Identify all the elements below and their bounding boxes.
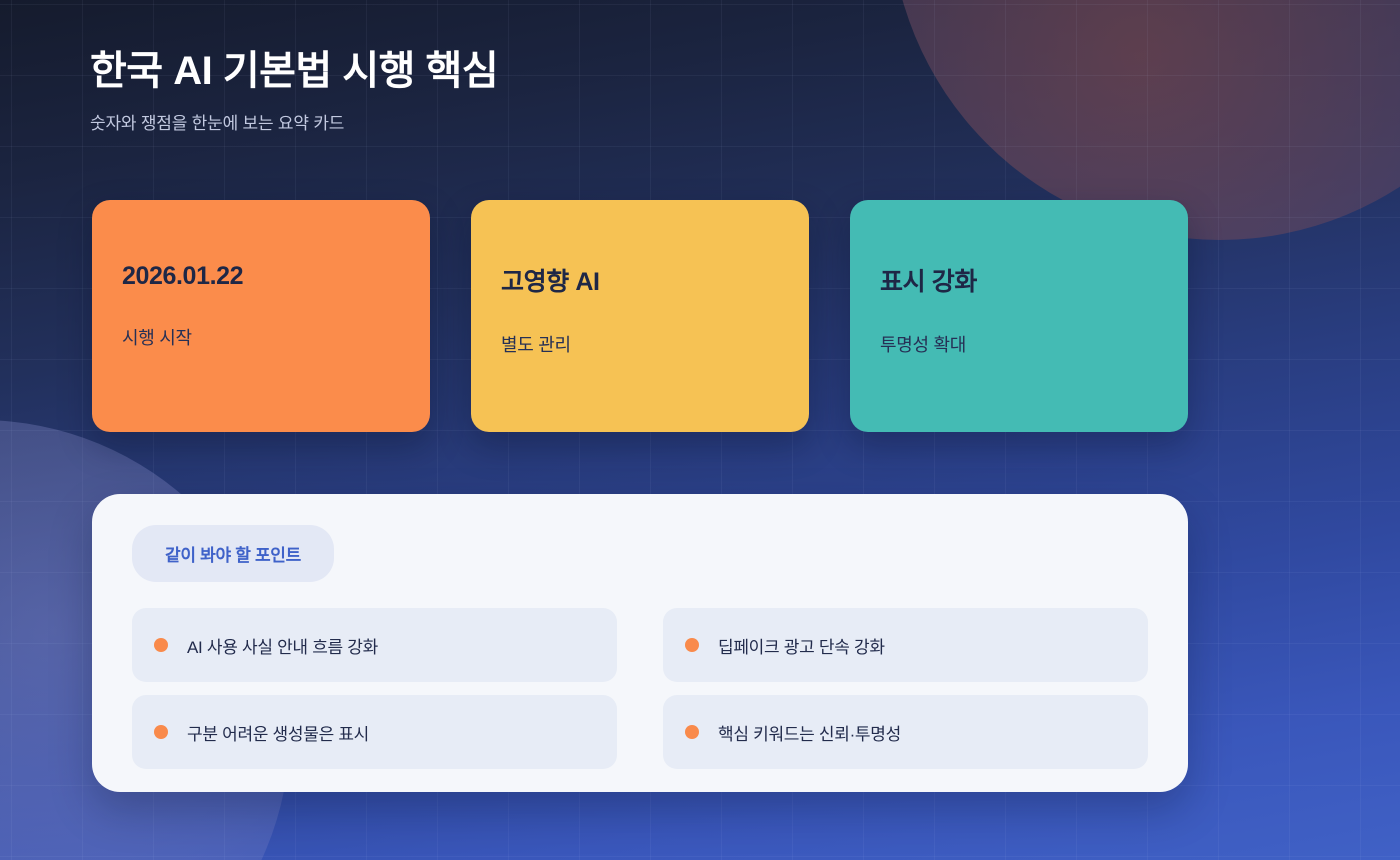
list-item[interactable]: 핵심 키워드는 신뢰·투명성: [663, 695, 1148, 769]
header: 한국 AI 기본법 시행 핵심 숫자와 쟁점을 한눈에 보는 요약 카드: [90, 48, 498, 134]
stat-card-title: 표시 강화: [880, 262, 1188, 298]
list-item-label: AI 사용 사실 안내 흐름 강화: [187, 633, 378, 658]
list-item-label: 핵심 키워드는 신뢰·투명성: [718, 720, 901, 745]
stat-card-subtitle: 시행 시작: [122, 324, 430, 350]
poster-canvas: 한국 AI 기본법 시행 핵심 숫자와 쟁점을 한눈에 보는 요약 카드 202…: [0, 0, 1400, 860]
points-badge: 같이 봐야 할 포인트: [132, 525, 334, 582]
page-title: 한국 AI 기본법 시행 핵심: [90, 48, 498, 95]
list-item[interactable]: AI 사용 사실 안내 흐름 강화: [132, 608, 617, 682]
bullet-dot-icon: [154, 638, 168, 652]
list-item-label: 구분 어려운 생성물은 표시: [187, 720, 369, 745]
stat-card-subtitle: 별도 관리: [501, 331, 809, 357]
points-list: AI 사용 사실 안내 흐름 강화 딥페이크 광고 단속 강화 구분 어려운 생…: [132, 608, 1148, 769]
points-panel: 같이 봐야 할 포인트 AI 사용 사실 안내 흐름 강화 딥페이크 광고 단속…: [92, 494, 1188, 792]
stat-card-title: 고영향 AI: [501, 262, 809, 298]
list-item[interactable]: 구분 어려운 생성물은 표시: [132, 695, 617, 769]
bullet-dot-icon: [685, 638, 699, 652]
stat-card-labeling[interactable]: 표시 강화 투명성 확대: [850, 200, 1188, 432]
stat-card-high-impact-ai[interactable]: 고영향 AI 별도 관리: [471, 200, 809, 432]
bullet-dot-icon: [154, 725, 168, 739]
bullet-dot-icon: [685, 725, 699, 739]
list-item[interactable]: 딥페이크 광고 단속 강화: [663, 608, 1148, 682]
stat-card-row: 2026.01.22 시행 시작 고영향 AI 별도 관리 표시 강화 투명성 …: [92, 200, 1188, 432]
stat-card-implementation-date[interactable]: 2026.01.22 시행 시작: [92, 200, 430, 432]
list-item-label: 딥페이크 광고 단속 강화: [718, 633, 885, 658]
page-subtitle: 숫자와 쟁점을 한눈에 보는 요약 카드: [90, 109, 498, 134]
stat-card-title: 2026.01.22: [122, 262, 430, 291]
stat-card-subtitle: 투명성 확대: [880, 331, 1188, 357]
